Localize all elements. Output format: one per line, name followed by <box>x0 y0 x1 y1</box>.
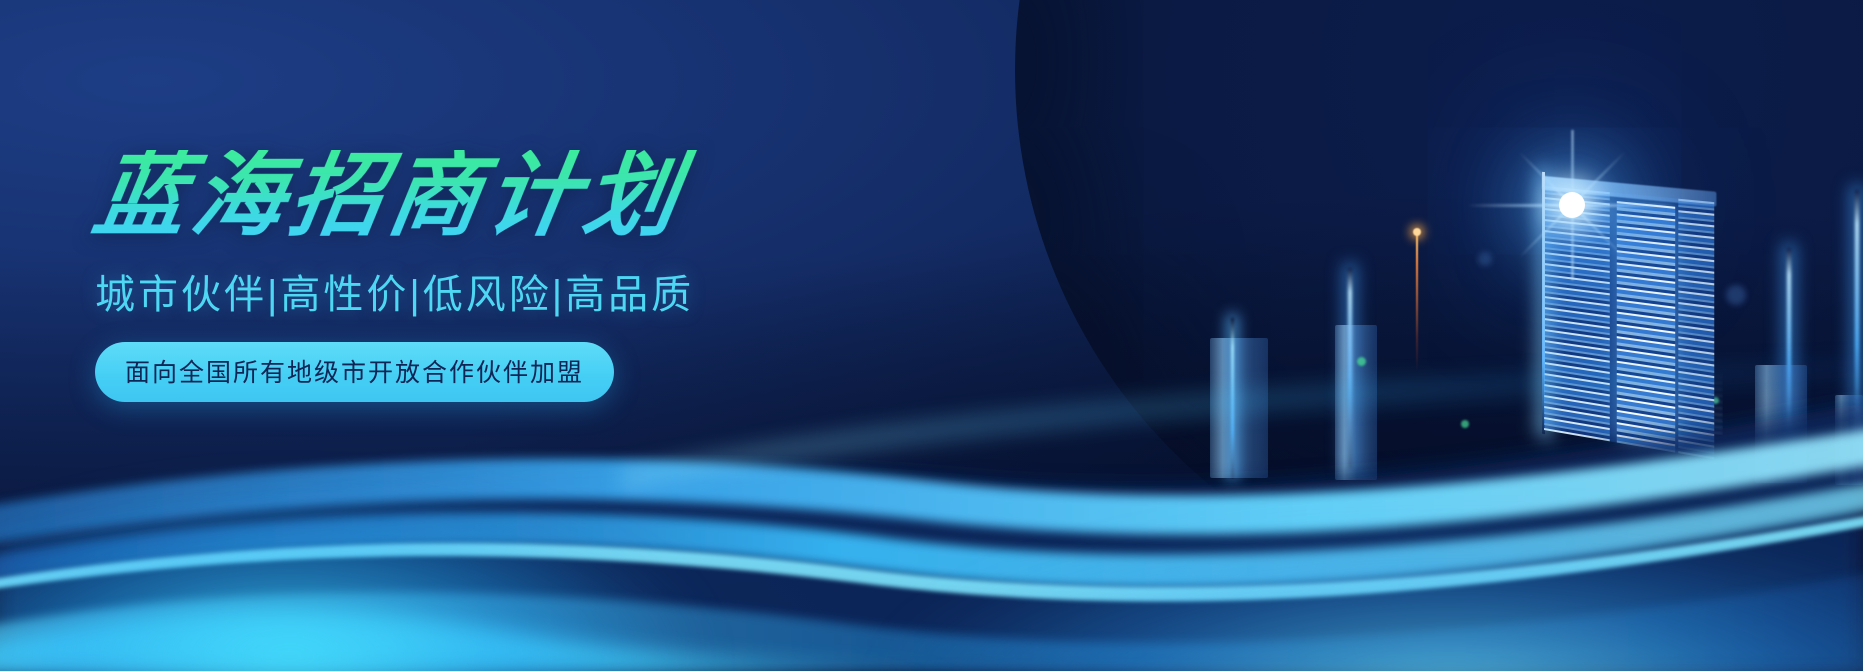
bottom-right-glow <box>900 531 1863 671</box>
status-badge: 面向全国所有地级市开放合作伙伴加盟 <box>95 342 614 402</box>
subtitle-tagline: 城市伙伴|高性价|低风险|高品质 <box>95 262 694 320</box>
planet-rim-light <box>1015 0 1863 610</box>
headline-block: 蓝海招商计划 城市伙伴|高性价|低风险|高品质 面向全国所有地级市开放合作伙伴加… <box>95 150 694 402</box>
page-title: 蓝海招商计划 <box>88 150 702 242</box>
promo-banner: 蓝海招商计划 城市伙伴|高性价|低风险|高品质 面向全国所有地级市开放合作伙伴加… <box>0 0 1863 671</box>
bottom-left-glow <box>0 491 700 671</box>
